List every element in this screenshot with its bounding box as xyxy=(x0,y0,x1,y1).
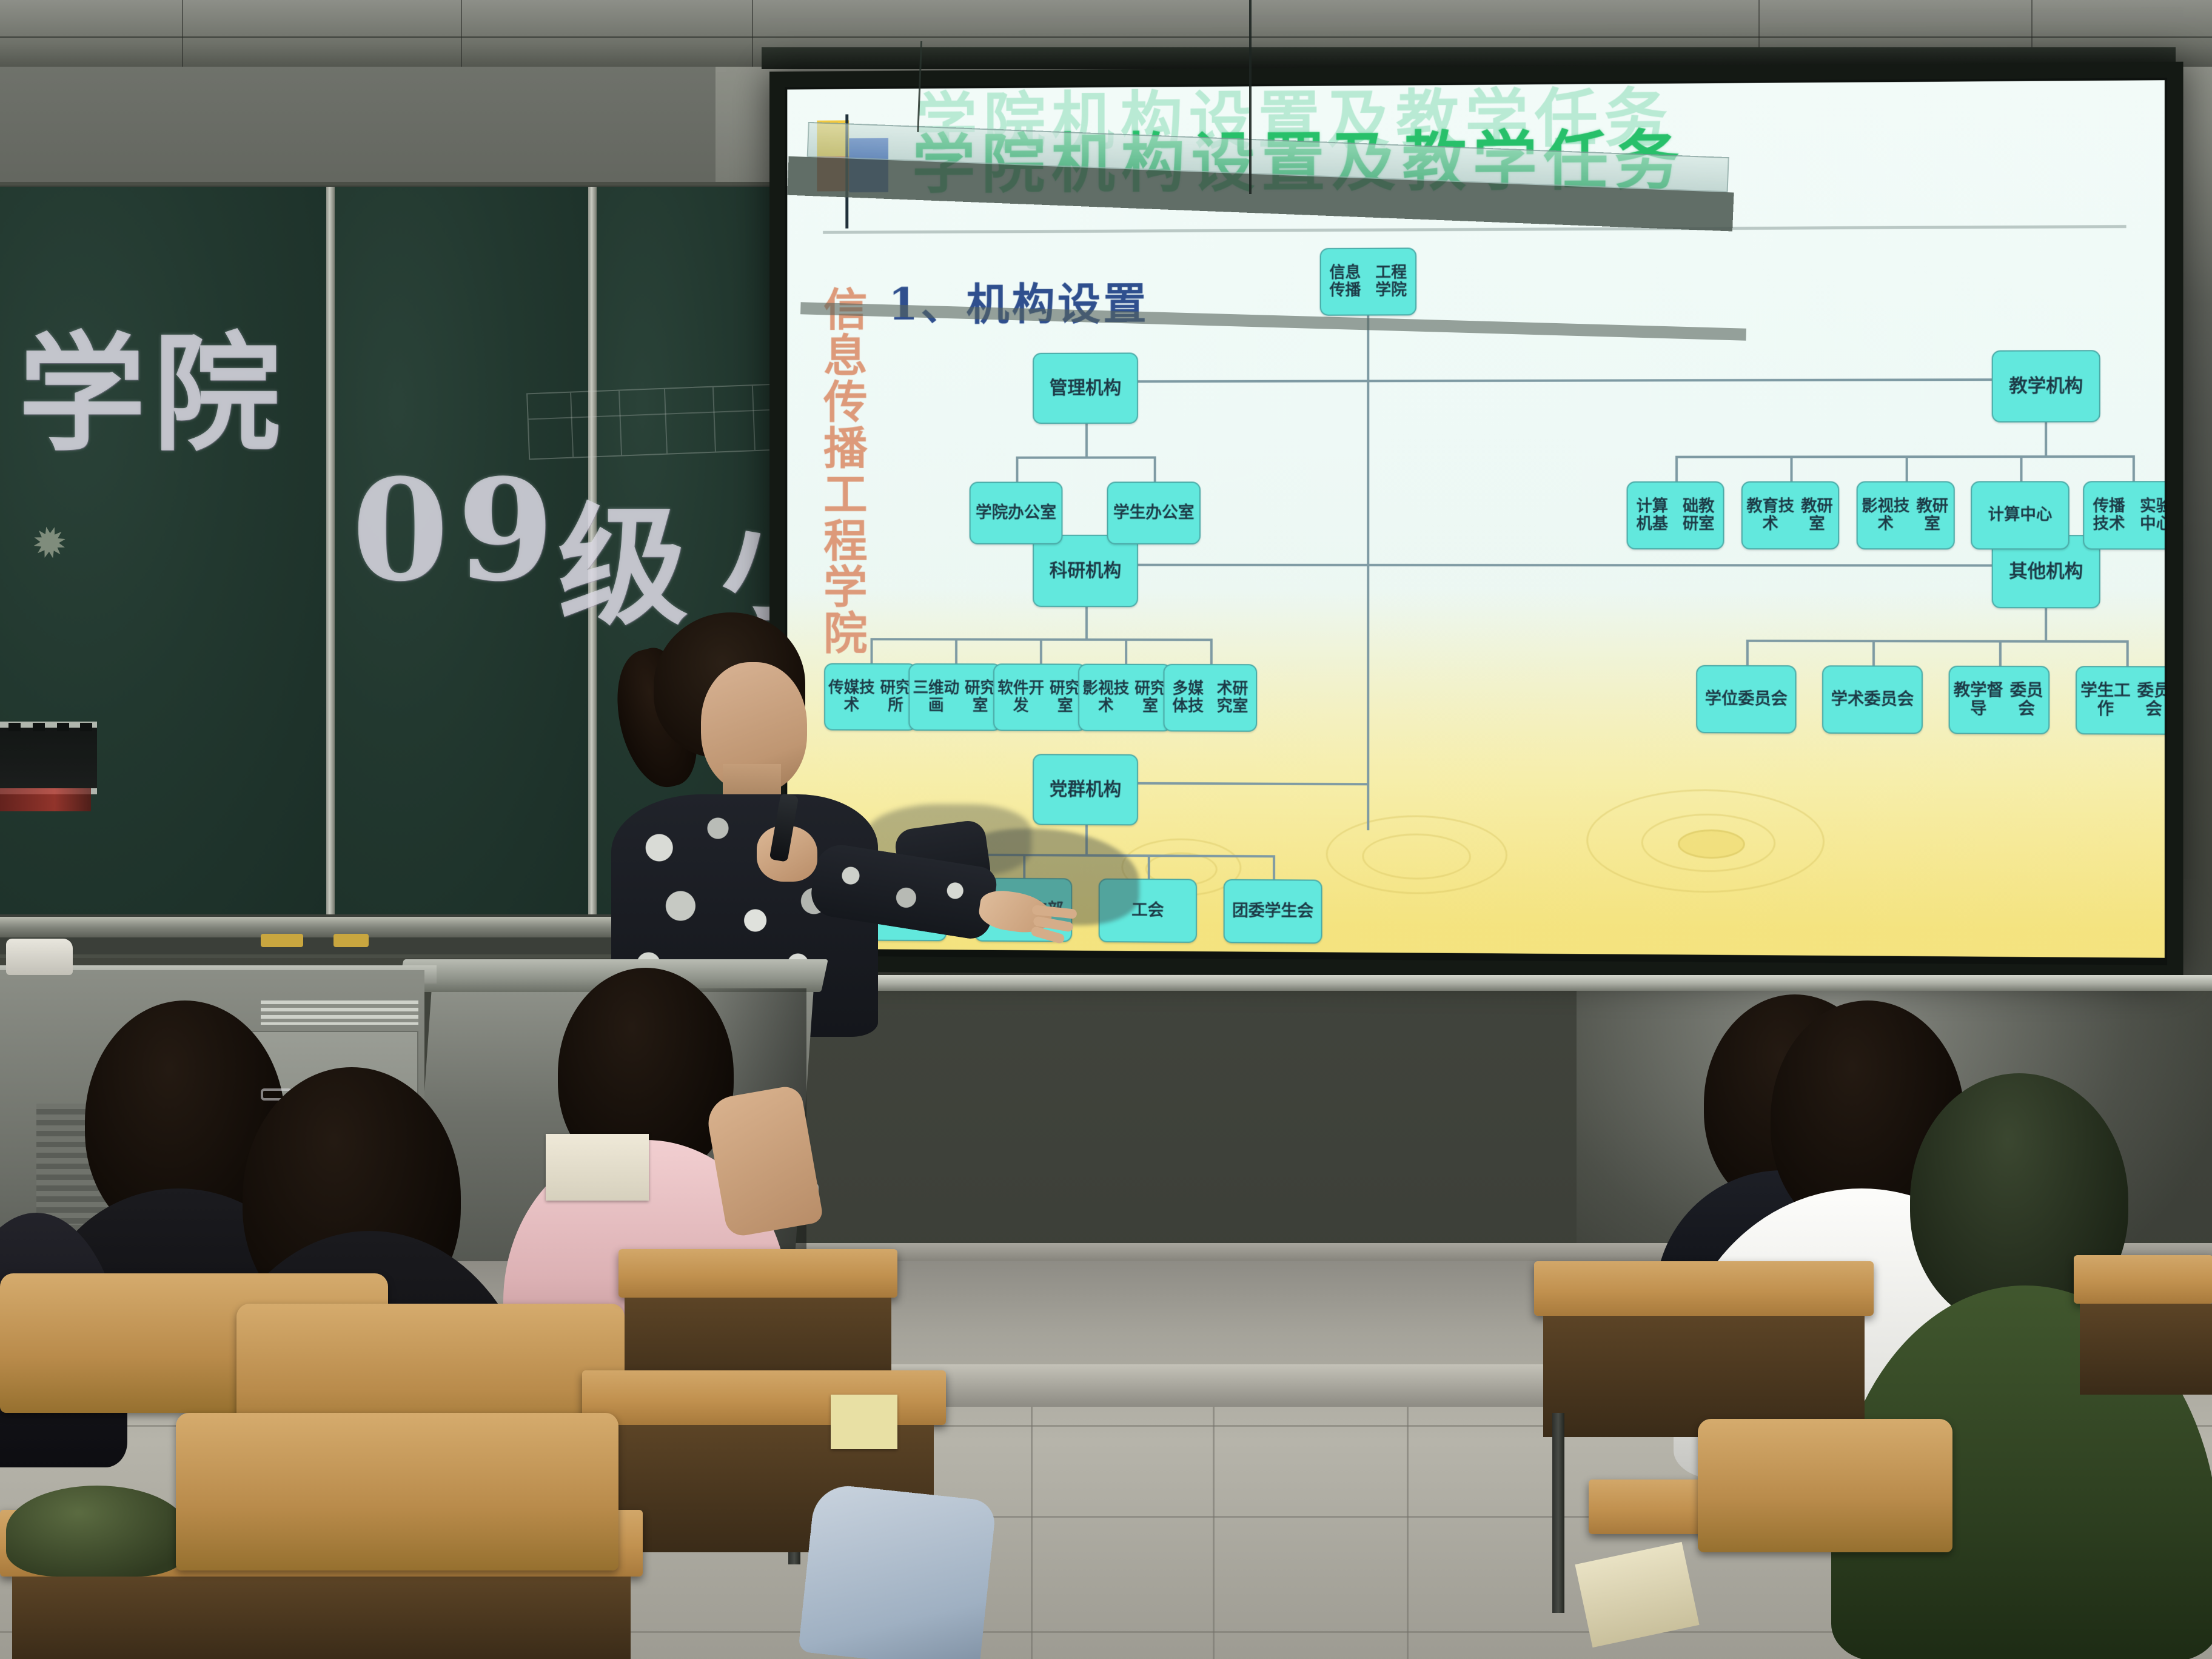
connector xyxy=(1125,638,1127,664)
connector xyxy=(1085,378,2046,383)
node-line: 委员会 xyxy=(1738,690,1788,709)
connector xyxy=(1085,423,1088,458)
org-node-o4[interactable]: 学生工作 委员会 xyxy=(2076,666,2165,735)
audience-legs xyxy=(798,1483,997,1659)
node-line: 党群机构 xyxy=(1050,779,1122,800)
node-line: 教研室 xyxy=(1912,498,1952,534)
org-node-mgmt[interactable]: 管理机构 xyxy=(1033,352,1138,424)
connector xyxy=(1040,638,1042,664)
node-line: 学生 xyxy=(1113,504,1145,522)
node-line: 实验中心 xyxy=(2133,497,2165,533)
cabinet-object xyxy=(6,939,73,975)
org-node-o3[interactable]: 教学督导 委员会 xyxy=(1949,666,2050,734)
org-node-root[interactable]: 信息传播 工程学院 xyxy=(1320,247,1416,315)
node-line: 委员会 xyxy=(2133,682,2165,719)
chalk-piece xyxy=(261,934,303,947)
node-line: 传播技术 xyxy=(2085,497,2132,533)
green-cap xyxy=(6,1486,188,1577)
node-line: 办公室 xyxy=(1008,504,1056,522)
org-node-t5[interactable]: 传播技术 实验中心 xyxy=(2083,481,2165,549)
node-line: 影视技术 xyxy=(1859,498,1912,534)
screen-roller-bar[interactable] xyxy=(728,975,2212,991)
node-line: 学术 xyxy=(1831,690,1865,709)
node-line: 计算中心 xyxy=(1988,506,2053,524)
node-line: 办公室 xyxy=(1145,504,1194,522)
node-line: 其他机构 xyxy=(2009,561,2083,582)
connector xyxy=(1154,457,1156,482)
paper-note xyxy=(831,1395,897,1449)
desk xyxy=(2074,1255,2212,1304)
connector xyxy=(1016,457,1155,459)
org-node-m2[interactable]: 学生 办公室 xyxy=(1107,481,1201,545)
org-node-t1[interactable]: 计算机基 础教研室 xyxy=(1627,481,1724,549)
connector xyxy=(1148,854,1150,879)
connector xyxy=(1906,455,1908,481)
node-line: 多媒体技 xyxy=(1166,680,1210,716)
node-line: 影视技术 xyxy=(1081,680,1131,715)
blackboard-divider-1 xyxy=(326,187,335,914)
blackboard-text-xueyuan: 学院 xyxy=(18,291,288,475)
org-node-o1[interactable]: 学位 委员会 xyxy=(1696,665,1796,734)
node-line: 术研究室 xyxy=(1210,680,1255,716)
connector xyxy=(2127,640,2129,666)
node-line: 教育技术 xyxy=(1744,498,1797,534)
classroom-scene: 学院 09 级 小 ✹ xyxy=(0,0,2212,1659)
org-node-t4[interactable]: 计算中心 xyxy=(1971,481,2070,549)
org-node-r3[interactable]: 软件开发 研究室 xyxy=(993,663,1087,731)
node-line: 础教研室 xyxy=(1675,498,1722,533)
connector xyxy=(2133,455,2135,481)
film-strip-decor xyxy=(0,722,97,794)
chalk-table xyxy=(526,383,796,460)
org-node-p4[interactable]: 团委 学生会 xyxy=(1224,879,1322,944)
org-node-party[interactable]: 党群机构 xyxy=(1033,754,1138,825)
node-line: 学生会 xyxy=(1265,902,1314,921)
connector xyxy=(1790,455,1792,481)
chair-back xyxy=(1698,1419,1952,1552)
chair-back xyxy=(176,1413,618,1570)
connector xyxy=(1746,640,1749,665)
org-node-teach[interactable]: 教学机构 xyxy=(1992,350,2100,422)
org-node-o2[interactable]: 学术 委员会 xyxy=(1822,665,1923,734)
org-node-r2[interactable]: 三维动画 研究室 xyxy=(908,663,1001,731)
desk xyxy=(618,1249,897,1298)
node-line: 团委 xyxy=(1232,902,1265,920)
org-node-m1[interactable]: 学院 办公室 xyxy=(970,481,1063,544)
connector xyxy=(2045,607,2047,642)
node-line: 教学机构 xyxy=(2009,376,2083,397)
chalk-piece xyxy=(333,934,369,947)
connector xyxy=(2020,455,2022,481)
org-node-r5[interactable]: 多媒体技 术研究室 xyxy=(1164,664,1258,732)
desk-underside xyxy=(2080,1304,2212,1395)
connector xyxy=(1872,640,1875,665)
connector xyxy=(1085,564,2046,567)
connector xyxy=(1746,640,2128,643)
connector xyxy=(1675,455,2134,458)
connector xyxy=(1273,855,1275,879)
connector xyxy=(1210,638,1213,664)
org-node-r4[interactable]: 影视技术 研究室 xyxy=(1078,664,1171,732)
connector xyxy=(955,638,957,663)
connector xyxy=(2045,421,2047,457)
node-line: 教研室 xyxy=(1797,498,1837,534)
film-strip-red xyxy=(0,788,91,811)
org-node-t3[interactable]: 影视技术 教研室 xyxy=(1857,481,1955,550)
node-line: 管理机构 xyxy=(1050,378,1122,398)
desk-leg xyxy=(1552,1413,1564,1613)
node-line: 教学督导 xyxy=(1951,682,2006,719)
connector xyxy=(1999,640,2002,666)
cabinet-paper-stack xyxy=(261,1000,418,1025)
desk-underside xyxy=(12,1577,631,1659)
node-line: 学位 xyxy=(1705,690,1738,709)
paper-sheet xyxy=(546,1134,649,1201)
node-line: 工程学院 xyxy=(1368,264,1414,299)
fixture-cord xyxy=(1249,0,1252,194)
desk xyxy=(1534,1261,1874,1316)
connector xyxy=(1085,606,1088,640)
connector xyxy=(1016,457,1018,482)
node-line: 计算机基 xyxy=(1629,498,1675,533)
node-line: 信息传播 xyxy=(1322,264,1369,300)
node-line: 学生工作 xyxy=(2078,682,2133,719)
connector xyxy=(1675,456,1678,481)
node-line: 软件开发 xyxy=(996,680,1046,715)
connector xyxy=(1367,352,1369,830)
org-node-research[interactable]: 科研机构 xyxy=(1033,535,1138,607)
node-line: 委员会 xyxy=(2006,682,2047,719)
node-line: 科研机构 xyxy=(1050,561,1122,581)
node-line: 学院 xyxy=(976,504,1008,522)
blackboard-text-09: 09 xyxy=(352,449,563,612)
org-node-t2[interactable]: 教育技术 教研室 xyxy=(1741,481,1840,550)
node-line: 委员会 xyxy=(1864,691,1914,709)
